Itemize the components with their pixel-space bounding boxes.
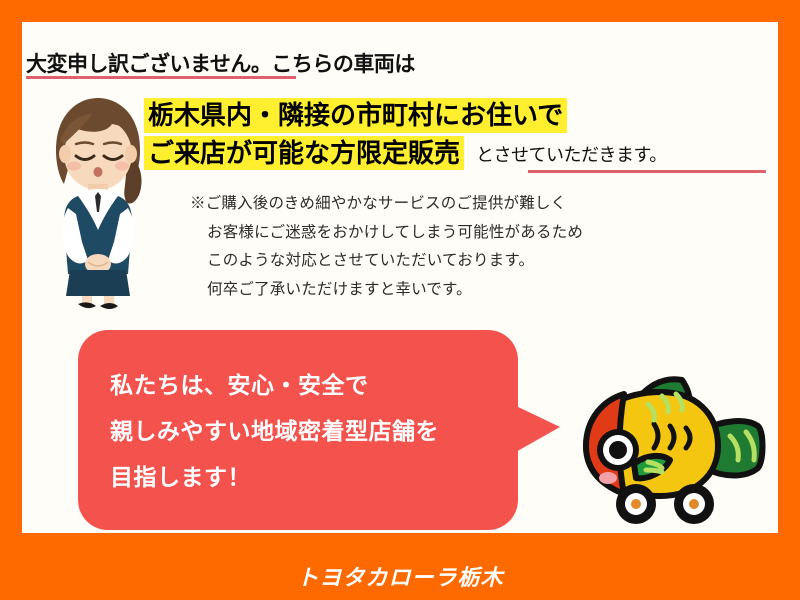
speech-bubble-tail bbox=[514, 405, 560, 453]
bowing-office-lady-illustration bbox=[34, 92, 162, 314]
headline-row-1: 栃木県内・隣接の市町村にお住いで bbox=[144, 98, 784, 133]
yellow-fish-mascot-icon bbox=[578, 368, 774, 530]
slogan-text: 私たちは、安心・安全で 親しみやすい地域密着型店舗を 目指します！ bbox=[110, 362, 439, 500]
headline-highlight-line2: ご来店が可能な方限定販売 bbox=[144, 136, 464, 171]
slogan-line-1: 私たちは、安心・安全で bbox=[110, 362, 439, 408]
note-line-3: このような対応とさせていただいております。 bbox=[190, 247, 583, 276]
headline-highlight-line1: 栃木県内・隣接の市町村にお住いで bbox=[144, 98, 567, 133]
note-line-2: お客様にご迷惑をおかけしてしまう可能性があるため bbox=[190, 219, 583, 248]
headline-tail-text: とさせていただきます。 bbox=[464, 141, 667, 170]
header-underline-rule bbox=[26, 76, 296, 79]
note-line-1: ※ご購入後のきめ細やかなサービスのご提供が難しく bbox=[190, 190, 583, 219]
flyer-canvas: 大変申し訳ございません。こちらの車両は bbox=[0, 0, 800, 600]
slogan-line-3: 目指します！ bbox=[110, 454, 439, 500]
page-title: 大変申し訳ございません。こちらの車両は bbox=[26, 48, 415, 78]
headline-block: 栃木県内・隣接の市町村にお住いで ご来店が可能な方限定販売 とさせていただきます… bbox=[144, 98, 784, 173]
headline-underline-rule bbox=[528, 170, 766, 173]
note-line-4: 何卒ご了承いただけますと幸いです。 bbox=[190, 276, 583, 305]
slogan-line-2: 親しみやすい地域密着型店舗を bbox=[110, 408, 439, 454]
dealer-logo-text: トヨタカローラ栃木 bbox=[0, 560, 800, 592]
headline-row-2: ご来店が可能な方限定販売 とさせていただきます。 bbox=[144, 136, 784, 171]
disclaimer-note: ※ご購入後のきめ細やかなサービスのご提供が難しく お客様にご迷惑をおかけしてしま… bbox=[190, 190, 583, 305]
